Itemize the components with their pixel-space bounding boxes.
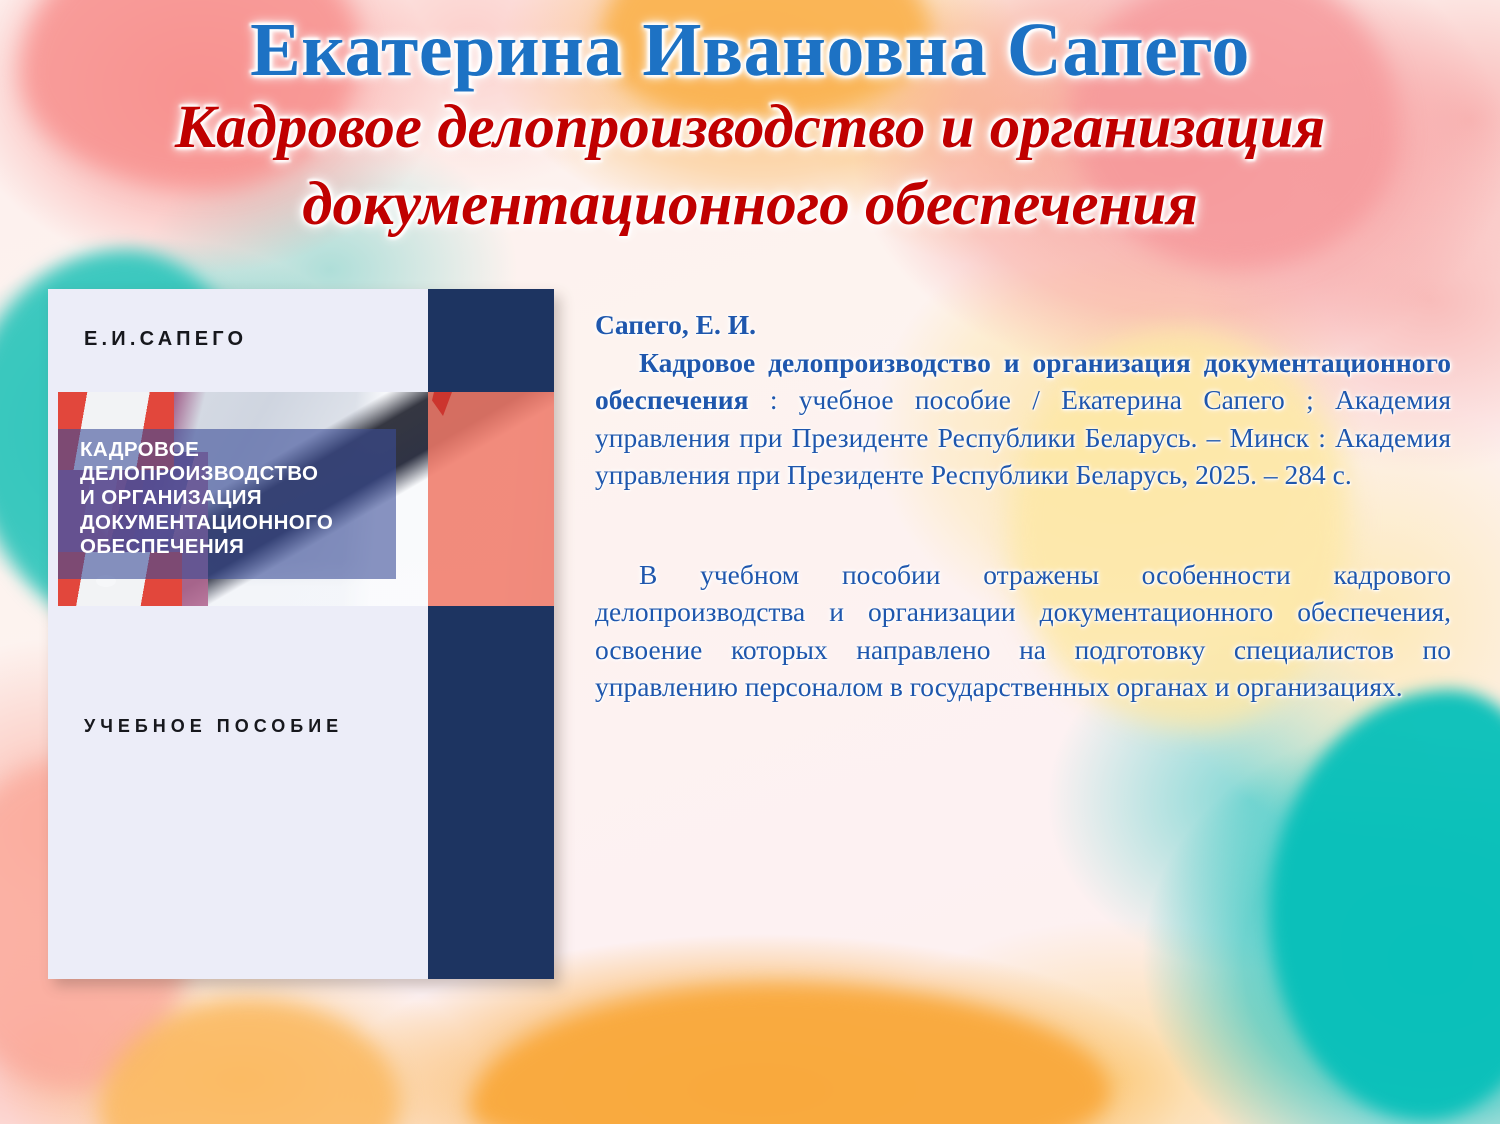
book-cover-salmon-overlay — [428, 392, 554, 606]
slide-canvas: Екатерина Ивановна Сапего Кадровое делоп… — [0, 0, 1500, 1124]
book-cover-title-panel: КАДРОВОЕ ДЕЛОПРОИЗВОДСТВО И ОРГАНИЗАЦИЯ … — [58, 429, 396, 579]
heading-block: Екатерина Ивановна Сапего Кадровое делоп… — [0, 12, 1500, 244]
description-column: Сапего, Е. И. Кадровое делопроизводство … — [595, 306, 1451, 706]
book-cover-author: Е.И.САПЕГО — [84, 328, 247, 351]
page-subtitle-line-1: Кадровое делопроизводство и организация — [90, 90, 1410, 167]
watercolor-blob-orange-bottom-left — [100, 1000, 400, 1124]
book-cover-kind: УЧЕБНОЕ ПОСОБИЕ — [84, 716, 343, 737]
book-cover-title: КАДРОВОЕ ДЕЛОПРОИЗВОДСТВО И ОРГАНИЗАЦИЯ … — [80, 438, 390, 559]
watercolor-blob-teal-bottom-right — [1270, 690, 1500, 1120]
book-cover-image: Е.И.САПЕГО КАДРОВОЕ ДЕЛОПРОИЗВОДСТВО И О… — [48, 289, 554, 979]
book-cover-title-line-1: КАДРОВОЕ — [80, 438, 390, 462]
watercolor-blob-orange-bottom — [470, 985, 1110, 1124]
page-title: Екатерина Ивановна Сапего — [0, 12, 1500, 88]
page-subtitle-line-2: документационного обеспечения — [90, 167, 1410, 244]
page-subtitle: Кадровое делопроизводство и организация … — [0, 90, 1500, 244]
book-cover-title-line-2: ДЕЛОПРОИЗВОДСТВО — [80, 462, 390, 486]
book-cover-title-line-3: И ОРГАНИЗАЦИЯ — [80, 486, 390, 510]
book-cover-title-line-5: ОБЕСПЕЧЕНИЯ — [80, 535, 390, 559]
book-cover-title-line-4: ДОКУМЕНТАЦИОННОГО — [80, 511, 390, 535]
bibliography-record: Кадровое делопроизводство и организация … — [595, 344, 1451, 494]
annotation-text: В учебном пособии отражены особенности к… — [595, 556, 1451, 706]
bibliography-heading: Сапего, Е. И. — [595, 306, 1451, 344]
